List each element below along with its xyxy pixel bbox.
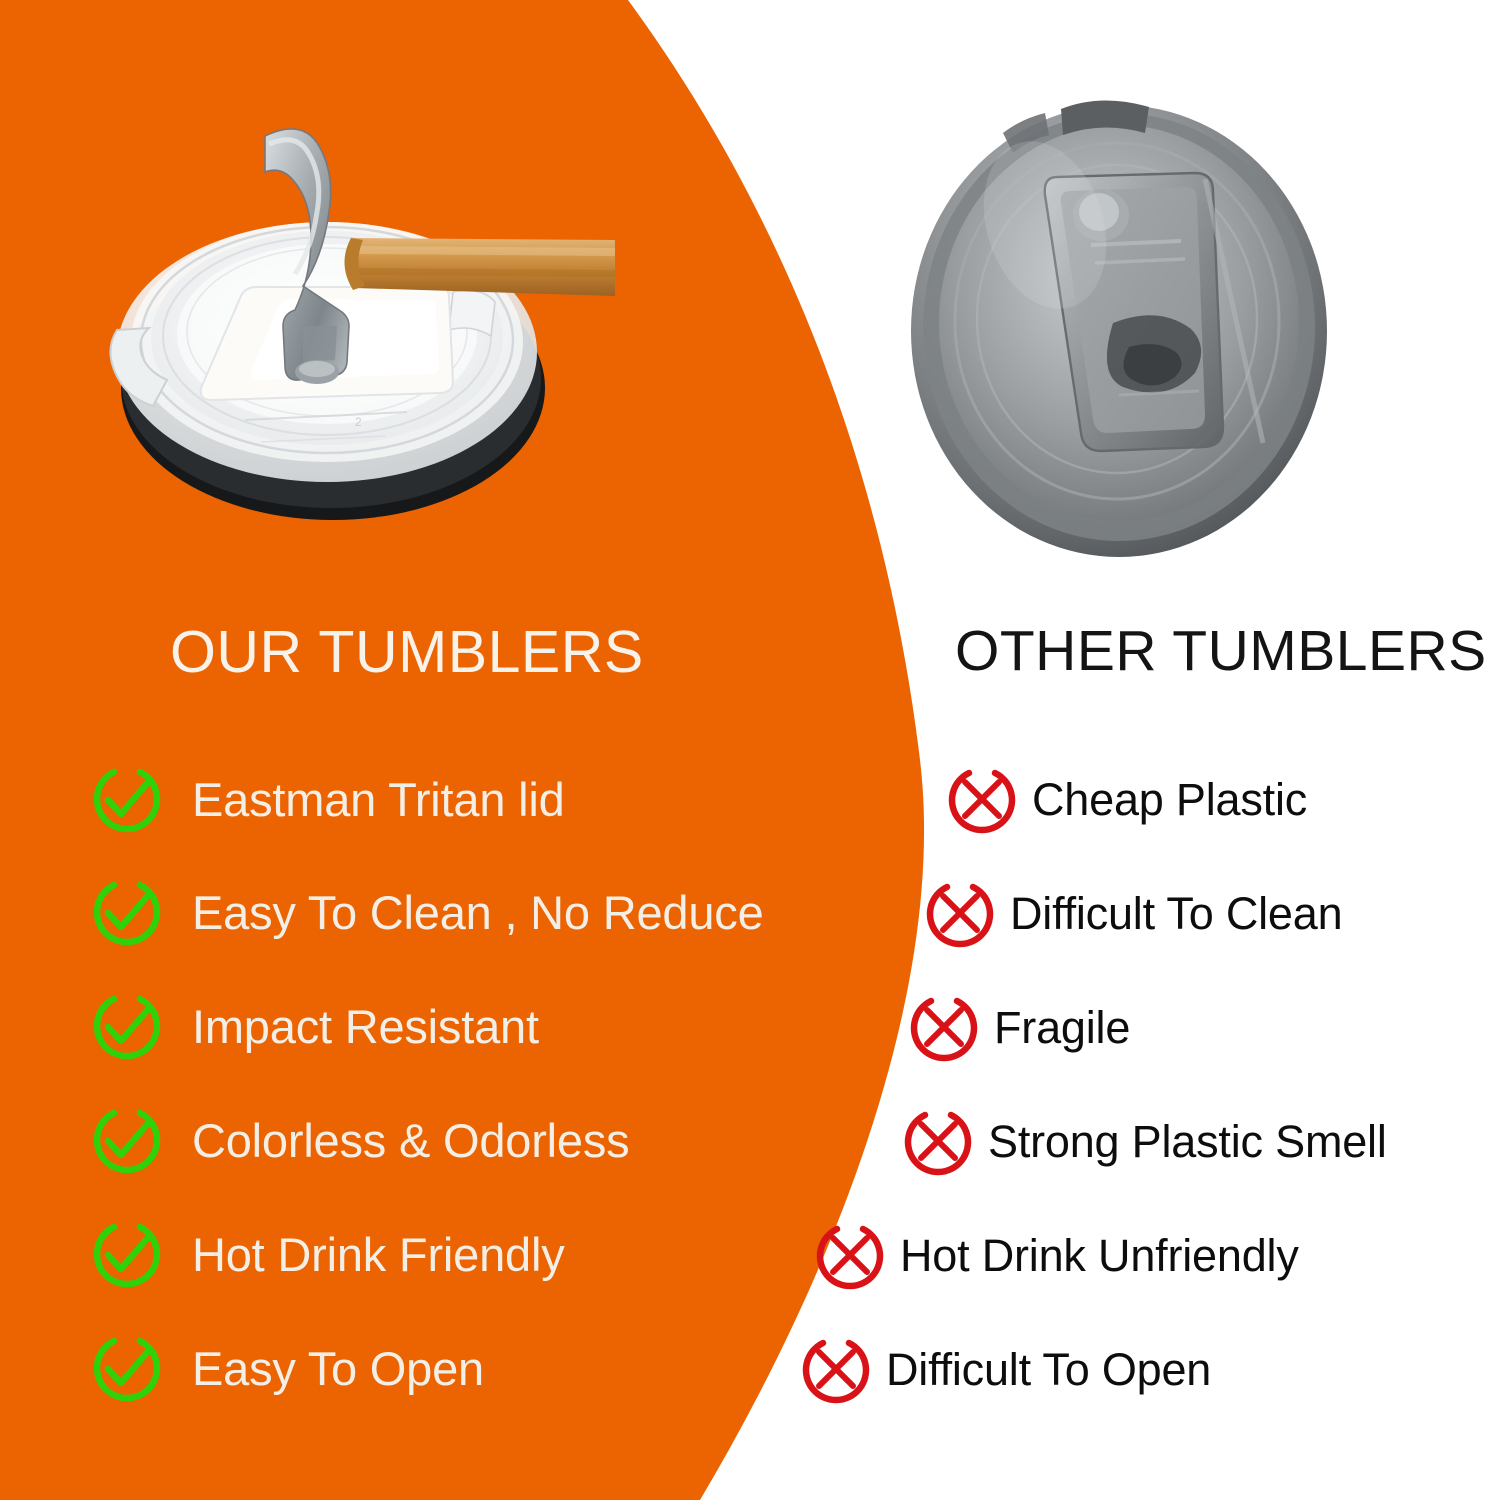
check-circle-icon	[88, 1215, 166, 1293]
list-item: Colorless & Odorless	[88, 1101, 629, 1179]
cross-circle-icon	[906, 990, 982, 1066]
check-circle-icon	[88, 1329, 166, 1407]
check-circle-icon	[88, 987, 166, 1065]
list-item-label: Fragile	[994, 1002, 1130, 1054]
list-item: Cheap Plastic	[944, 762, 1307, 838]
list-item: Difficult To Open	[798, 1332, 1211, 1408]
our-tumbler-lid-hammer-test-photo: 2	[55, 120, 615, 540]
list-item-label: Difficult To Clean	[1010, 888, 1342, 940]
list-item-label: Hot Drink Unfriendly	[900, 1230, 1299, 1282]
list-item-label: Impact Resistant	[192, 999, 539, 1054]
list-item: Easy To Clean , No Reduce	[88, 873, 764, 951]
comparison-infographic: 2	[0, 0, 1489, 1500]
list-item-label: Colorless & Odorless	[192, 1113, 629, 1168]
list-item-label: Easy To Open	[192, 1341, 484, 1396]
list-item: Eastman Tritan lid	[88, 760, 565, 838]
cross-circle-icon	[944, 762, 1020, 838]
list-item: Fragile	[906, 990, 1130, 1066]
list-item-label: Strong Plastic Smell	[988, 1116, 1387, 1168]
list-item: Strong Plastic Smell	[900, 1104, 1387, 1180]
page-title-other-tumblers: OTHER TUMBLERS	[955, 618, 1487, 684]
cross-circle-icon	[900, 1104, 976, 1180]
page-title-our-tumblers: OUR TUMBLERS	[170, 618, 644, 686]
svg-text:2: 2	[355, 415, 362, 429]
list-item: Hot Drink Friendly	[88, 1215, 565, 1293]
list-item: Easy To Open	[88, 1329, 484, 1407]
list-item: Hot Drink Unfriendly	[812, 1218, 1299, 1294]
list-item-label: Difficult To Open	[886, 1344, 1211, 1396]
list-item: Difficult To Clean	[922, 876, 1342, 952]
list-item-label: Hot Drink Friendly	[192, 1227, 565, 1282]
list-item: Impact Resistant	[88, 987, 539, 1065]
check-circle-icon	[88, 760, 166, 838]
check-circle-icon	[88, 1101, 166, 1179]
check-circle-icon	[88, 873, 166, 951]
cross-circle-icon	[798, 1332, 874, 1408]
list-item-label: Easy To Clean , No Reduce	[192, 885, 764, 940]
list-item-label: Eastman Tritan lid	[192, 772, 565, 827]
list-item-label: Cheap Plastic	[1032, 774, 1307, 826]
cross-circle-icon	[812, 1218, 888, 1294]
other-tumbler-gray-lid-photo	[905, 95, 1335, 570]
cross-circle-icon	[922, 876, 998, 952]
